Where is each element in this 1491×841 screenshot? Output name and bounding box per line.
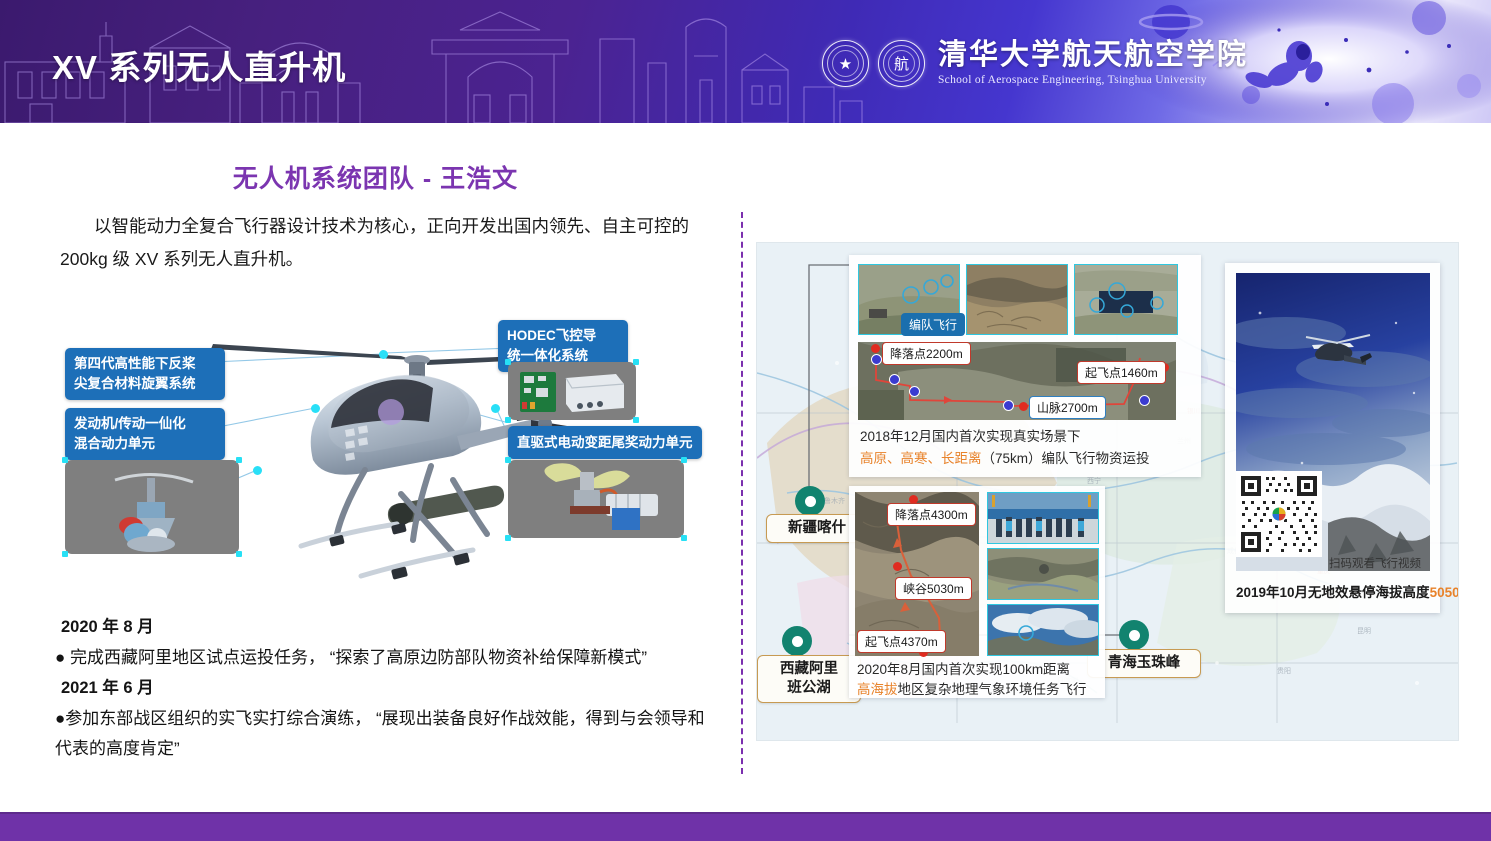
hotspot-rotor [379, 350, 388, 359]
label-takeoff-1460: 起飞点1460m [1077, 361, 1166, 384]
label-landing-4300: 降落点4300m [887, 503, 976, 526]
route-dot-landing-2018 [871, 344, 880, 353]
video-title-value: 5050m [1430, 585, 1458, 600]
tail-drive-art [508, 460, 684, 538]
caption-2018-hl: 高原、高寒、长距离 [860, 451, 982, 466]
thumb-clouds[interactable] [987, 604, 1099, 656]
map-pin-label-ali[interactable]: 西藏阿里 班公湖 [757, 655, 861, 703]
waypoint-d [1003, 400, 1014, 411]
intro-paragraph: 以智能动力全复合飞行器设计技术为核心，正向开发出国内领先、自主可控的 200kg… [60, 210, 710, 276]
caption-2020-line1: 2020年8月国内首次实现100km距离 [857, 660, 1070, 679]
mission-card-2020[interactable]: 降落点4300m 峡谷5030m 起飞点4370m [849, 486, 1105, 698]
waypoint-c [909, 386, 920, 397]
waypoint-a [871, 354, 882, 365]
slide-footer [0, 812, 1491, 841]
waypoint-f [1139, 395, 1150, 406]
label-canyon-5030: 峡谷5030m [895, 577, 972, 600]
bullet-text-1: ●参加东部战区组织的实飞实打综合演练， “展现出装备良好作战效能，得到与会领导和… [55, 704, 715, 764]
video-title-prefix: 2019年10月无地效悬停海拔高度 [1236, 585, 1430, 600]
route-dot-ridge-2018 [1019, 402, 1028, 411]
tag-hybrid-power[interactable]: 发动机/传动一仙化 混合动力单元 [65, 408, 225, 460]
tag-hodec-line1: HODEC飞控导 [507, 326, 619, 346]
avionics-art [508, 362, 636, 420]
slide-header: XV 系列无人直升机 ★ 航 清华大学航天航空学院 School of Aero… [0, 0, 1491, 123]
tail-drive-photo[interactable] [508, 460, 684, 538]
seal-aerospace-icon: 航 [878, 40, 925, 87]
ali-line2: 班公湖 [767, 679, 851, 698]
tag-hybrid-line2: 混合动力单元 [74, 434, 216, 454]
section-title: 无人机系统团队 - 王浩文 [0, 159, 1491, 195]
avionics-board-photo[interactable] [508, 362, 636, 420]
bullet-date-1: 2021 年 6 月 [61, 673, 715, 703]
caption-2018-rest: （75km）编队飞行物资运投 [982, 451, 1150, 466]
waypoint-b [889, 374, 900, 385]
label-takeoff-4370: 起飞点4370m [857, 630, 946, 653]
rotor-engine-art [65, 460, 239, 554]
badge-formation-flight: 编队飞行 [901, 313, 965, 336]
badge-formation-text: 编队飞行 [909, 318, 957, 332]
tag-tail-power-unit[interactable]: 直驱式电动变距尾奖动力单元 [508, 426, 702, 459]
mission-card-2018[interactable]: 编队飞行 降落 [849, 255, 1201, 477]
qr-caption: 扫码观看飞行视频 [1329, 555, 1421, 571]
label-landing-2200: 降落点2200m [882, 342, 971, 365]
hotspot-fuselage [311, 404, 320, 413]
thumb-formation-2[interactable] [1074, 264, 1178, 335]
caption-2020-line2: 高海拔地区复杂地理气象环境任务飞行 [857, 680, 1087, 699]
thumb-canyon[interactable] [966, 264, 1068, 335]
video-card-2019[interactable]: 扫码观看飞行视频 2019年10月无地效悬停海拔高度5050m [1225, 263, 1440, 613]
ali-line1: 西藏阿里 [767, 660, 851, 679]
hotspot-tail [491, 404, 500, 413]
bullet-date-0: 2020 年 8 月 [61, 612, 715, 642]
route-dot-canyon-2020 [893, 562, 902, 571]
seal-tsinghua-icon: ★ [822, 40, 869, 87]
tag-rotor-line1: 第四代高性能下反桨 [74, 354, 216, 374]
helicopter-diagram: 第四代高性能下反桨 尖复合材料旋翼系统 发动机/传动一仙化 混合动力单元 HOD… [45, 300, 725, 590]
hotspot-engine [253, 466, 262, 475]
achievements-list: 2020 年 8 月 ● 完成西藏阿里地区试点运投任务， “探索了高原边防部队物… [55, 612, 715, 764]
page-title: XV 系列无人直升机 [52, 41, 346, 89]
caption-2018-line1: 2018年12月国内首次实现真实场景下 [860, 427, 1081, 446]
video-card-title: 2019年10月无地效悬停海拔高度5050m [1236, 581, 1458, 601]
caption-2018-line2: 高原、高寒、长距离（75km）编队飞行物资运投 [860, 449, 1150, 468]
rotor-engine-photo[interactable] [65, 460, 239, 554]
section-title-text: 无人机系统团队 - 王浩文 [233, 165, 518, 193]
org-name-cn: 清华大学航天航空学院 [938, 41, 1248, 70]
tag-hybrid-line1: 发动机/传动一仙化 [74, 414, 216, 434]
label-ridge-2700: 山脉2700m [1029, 396, 1106, 419]
tag-tail-text: 直驱式电动变距尾奖动力单元 [517, 435, 693, 450]
mission-map-panel: 乌鲁木齐和田拉萨 西宁兰州成都 西安昆明日喀则 北京贵阳阿勒泰 银川重庆武汉 新… [757, 243, 1458, 740]
org-logo-group: ★ 航 清华大学航天航空学院 School of Aerospace Engin… [822, 40, 1248, 87]
caption-2020-hl: 高海拔 [857, 682, 898, 697]
org-name-en: School of Aerospace Engineering, Tsinghu… [938, 74, 1248, 86]
bullet-text-0: ● 完成西藏阿里地区试点运投任务， “探索了高原边防部队物资补给保障新模式” [55, 643, 715, 673]
thumb-valley[interactable] [987, 548, 1099, 600]
qr-code[interactable] [1236, 471, 1322, 557]
thumb-team-photo[interactable] [987, 492, 1099, 544]
caption-2020-rest: 地区复杂地理气象环境任务飞行 [898, 682, 1087, 697]
tag-rotor-system[interactable]: 第四代高性能下反桨 尖复合材料旋翼系统 [65, 348, 225, 400]
vertical-divider [741, 212, 743, 774]
tag-rotor-line2: 尖复合材料旋翼系统 [74, 374, 216, 394]
